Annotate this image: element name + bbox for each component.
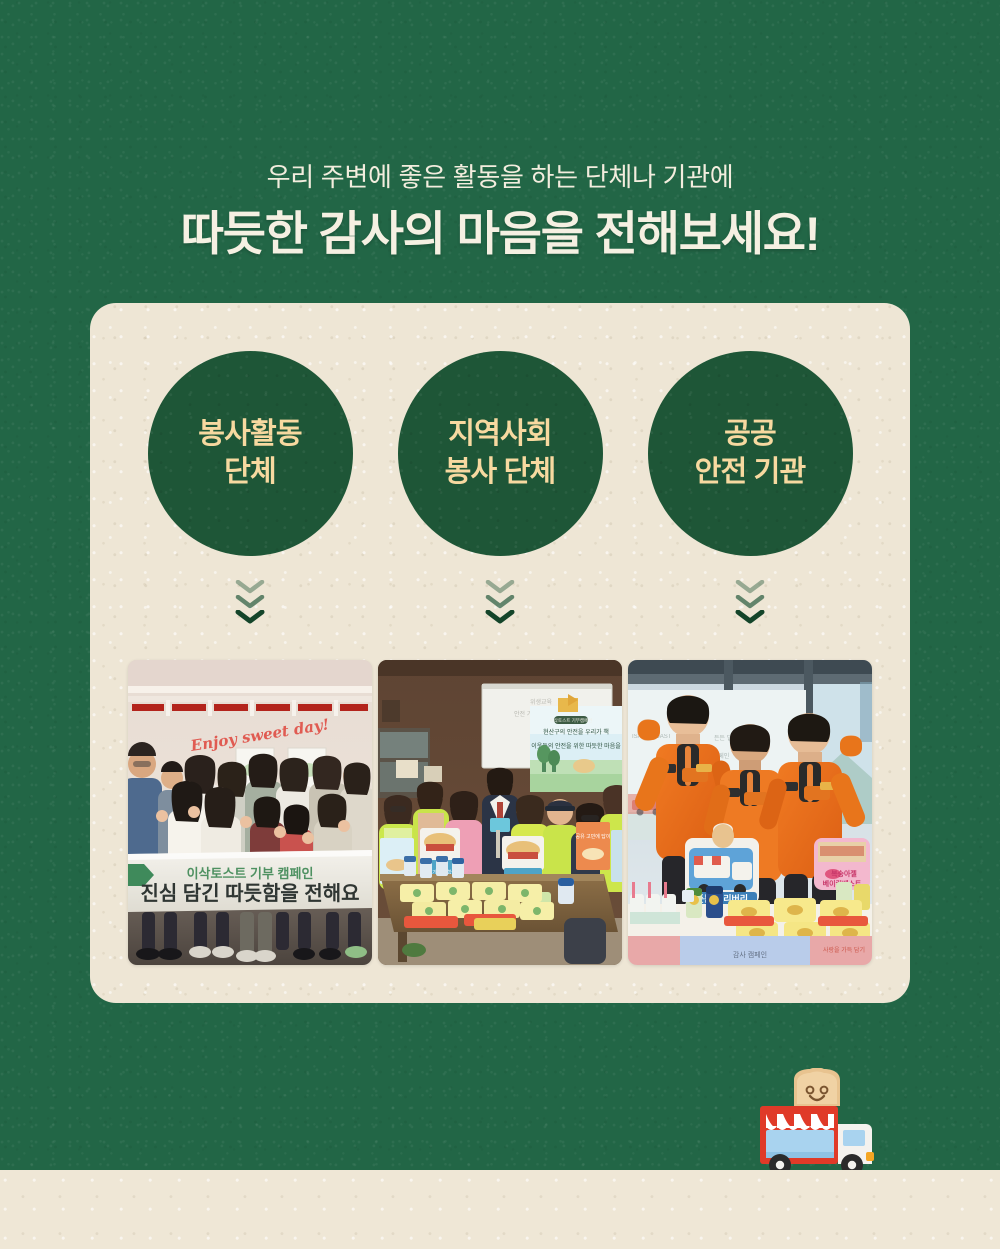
category-circle-community-service-organization[interactable]: 지역사회 봉사 단체 bbox=[398, 351, 603, 556]
chevron-down-icon bbox=[235, 610, 265, 624]
banner-large-text: 진심 담긴 따듯함을 전해요 bbox=[140, 882, 359, 905]
photo-volunteer-group[interactable]: Enjoy sweet day! bbox=[128, 660, 372, 965]
category-circle-volunteer-organization[interactable]: 봉사활동 단체 bbox=[148, 351, 353, 556]
toast-character-icon bbox=[794, 1068, 840, 1106]
chevron-group-1 bbox=[148, 580, 353, 624]
category-label: 지역사회 봉사 단체 bbox=[445, 416, 556, 491]
content-panel: 봉사활동 단체 지역사회 봉사 단체 공공 안전 기관 bbox=[90, 303, 910, 1003]
category-circle-row: 봉사활동 단체 지역사회 봉사 단체 공공 안전 기관 bbox=[90, 351, 910, 556]
chevron-down-icon bbox=[485, 580, 515, 594]
category-label: 봉사활동 단체 bbox=[198, 416, 302, 491]
toast-delivery-truck-illustration bbox=[748, 1068, 898, 1180]
awning bbox=[766, 1114, 834, 1130]
chevron-group-2 bbox=[398, 580, 603, 624]
chevron-down-icon bbox=[485, 595, 515, 609]
svg-text:복숭아젤: 복숭아젤 bbox=[831, 869, 857, 878]
chevron-down-icon bbox=[735, 610, 765, 624]
projection-screen: 이삭토스트 기부캠페인 현산구의 안전을 우리가 책 이웃들의 안전을 위한 따… bbox=[530, 694, 622, 792]
banner: 이삭토스트 기부 캠페인 진심 담긴 따듯함을 전해요 bbox=[128, 850, 372, 912]
chevron-down-icon bbox=[235, 595, 265, 609]
header: 우리 주변에 좋은 활동을 하는 단체나 기관에 따듯한 감사의 마음을 전해보… bbox=[0, 0, 1000, 300]
svg-text:감사 캠페인: 감사 캠페인 bbox=[733, 950, 767, 959]
chevron-down-icon bbox=[485, 610, 515, 624]
subheadline: 우리 주변에 좋은 활동을 하는 단체나 기관에 bbox=[267, 157, 734, 194]
svg-text:사랑을 가득 담기: 사랑을 가득 담기 bbox=[823, 946, 865, 954]
chevron-down-icon bbox=[235, 580, 265, 594]
chevron-down-icon bbox=[735, 580, 765, 594]
screen-line-1: 현산구의 안전을 우리가 책 bbox=[543, 728, 609, 736]
chevron-down-icon bbox=[735, 595, 765, 609]
photo-firefighters[interactable]: ISAAC TOAST든든 딜리버리 기부 캠페인기획안 bbox=[628, 660, 872, 965]
chevron-row bbox=[90, 580, 910, 624]
photo-row: Enjoy sweet day! bbox=[90, 660, 910, 965]
svg-text:이삭토스트 기부캠페인: 이삭토스트 기부캠페인 bbox=[550, 717, 593, 724]
page-title: 따듯한 감사의 마음을 전해보세요! bbox=[181, 208, 820, 260]
svg-text:위생교육: 위생교육 bbox=[530, 698, 553, 706]
photo-community-volunteers[interactable]: 위생교육안전 기대 완료기 이삭토스트 기부캠 bbox=[378, 660, 622, 965]
category-label: 공공 안전 기관 bbox=[695, 416, 806, 491]
category-circle-public-safety-agency[interactable]: 공공 안전 기관 bbox=[648, 351, 853, 556]
svg-text:공유 고민에 답이: 공유 고민에 답이 bbox=[576, 833, 611, 840]
banner-small-text: 이삭토스트 기부 캠페인 bbox=[187, 866, 314, 881]
bottom-strip bbox=[0, 1170, 1000, 1249]
chevron-group-3 bbox=[648, 580, 853, 624]
